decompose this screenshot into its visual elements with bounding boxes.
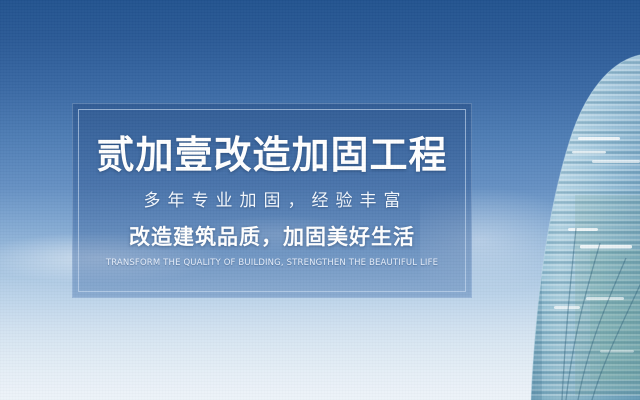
english-tagline: TRANSFORM THE QUALITY OF BUILDING, STREN… (72, 248, 472, 268)
subtitle-text: 多年专业加固，经验丰富 (72, 174, 472, 210)
page-title: 贰加壹改造加固工程 (72, 103, 472, 174)
headline-panel: 贰加壹改造加固工程 多年专业加固，经验丰富 改造建筑品质，加固美好生活 TRAN… (72, 103, 472, 298)
panel-content: 贰加壹改造加固工程 多年专业加固，经验丰富 改造建筑品质，加固美好生活 TRAN… (72, 103, 472, 268)
slogan-text: 改造建筑品质，加固美好生活 (72, 210, 472, 248)
banner-image: 贰加壹改造加固工程 多年专业加固，经验丰富 改造建筑品质，加固美好生活 TRAN… (0, 0, 640, 400)
